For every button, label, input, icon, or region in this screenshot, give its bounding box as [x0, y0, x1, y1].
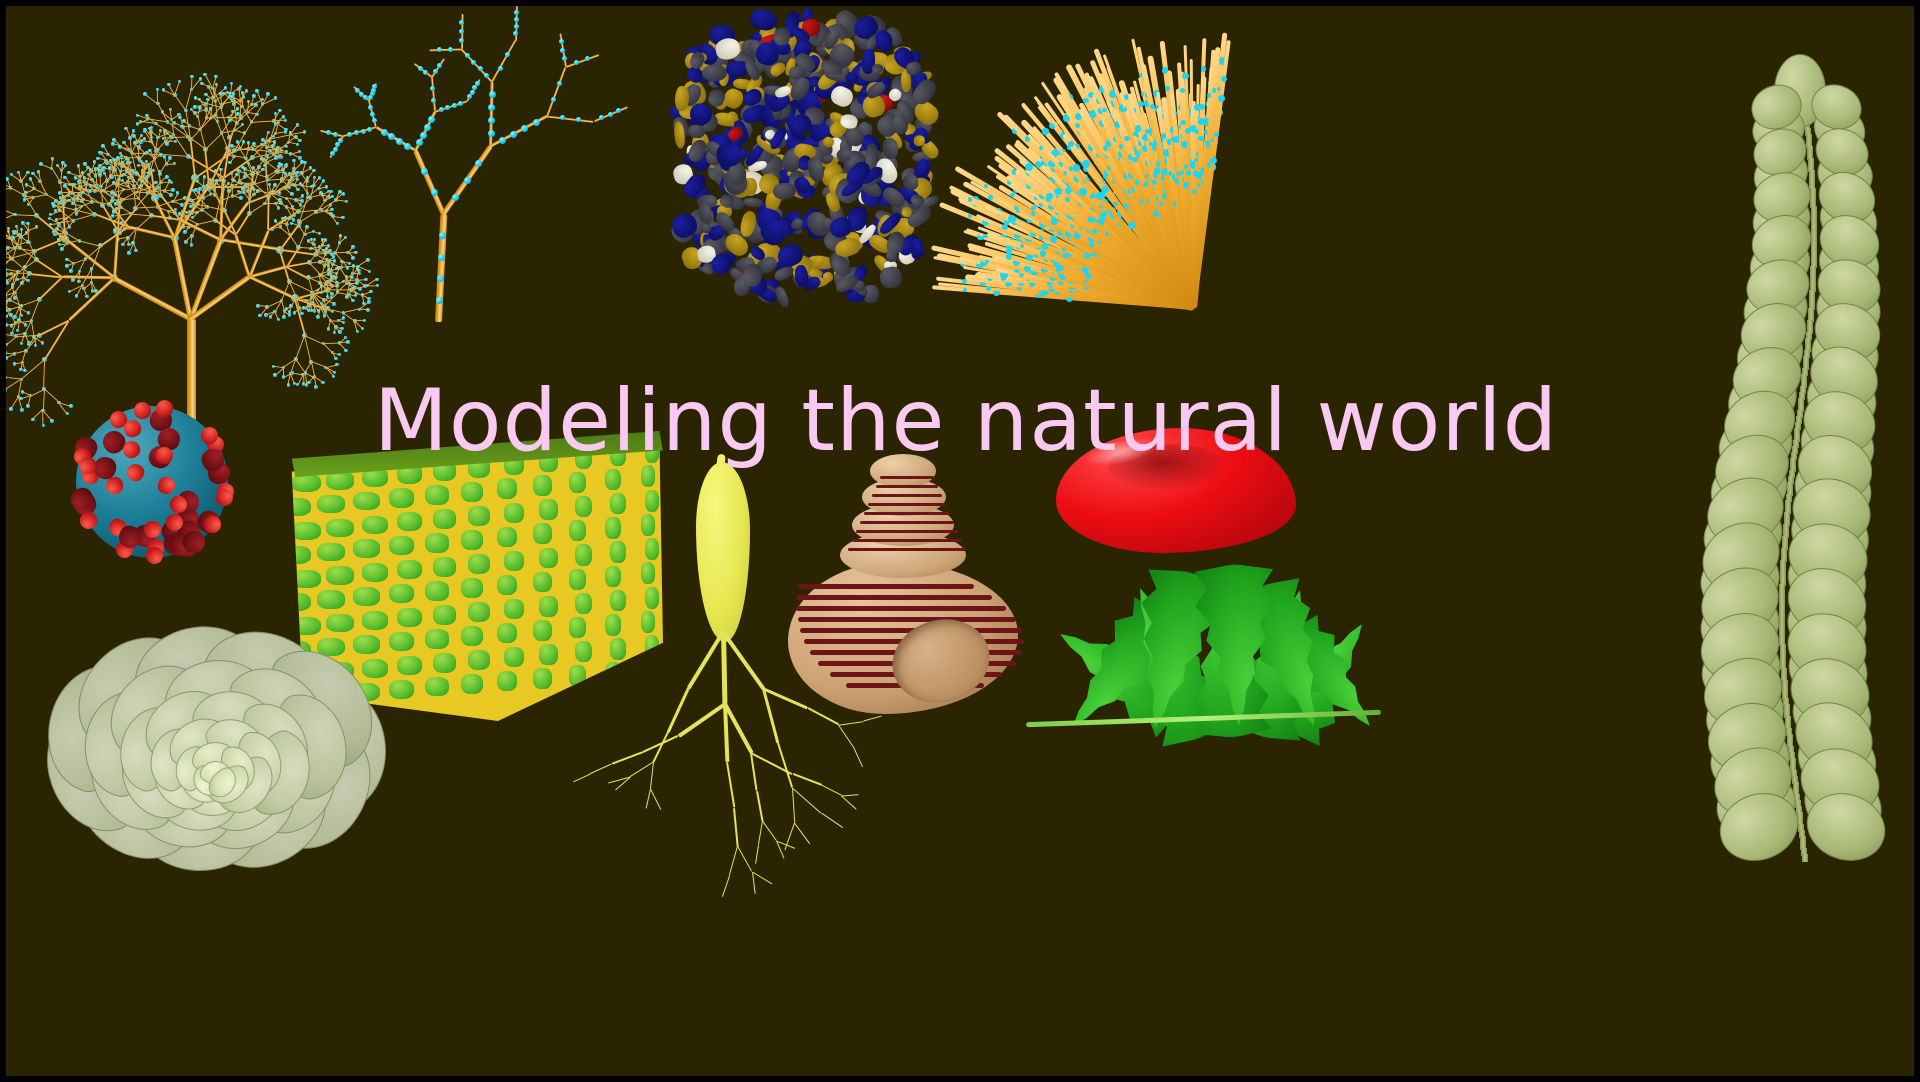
rootlet: [590, 763, 612, 774]
tissue-cell: [461, 626, 483, 646]
tree-branch: [0, 237, 1, 246]
twig-bud: [513, 31, 518, 36]
tissue-cell: [504, 599, 524, 619]
rootlet: [755, 845, 759, 864]
tree-branch: [1, 209, 15, 215]
tree-bud: [2, 242, 6, 246]
shell-growth-stripe: [796, 595, 992, 600]
tissue-cell: [461, 674, 483, 694]
tissue-cell: [533, 668, 552, 689]
tree-branch: [234, 130, 244, 134]
rootlet: [838, 720, 863, 725]
twig-bud: [437, 275, 444, 282]
tissue-cell: [425, 581, 449, 601]
twig-bud: [361, 129, 366, 134]
twig-bud: [359, 92, 364, 97]
tissue-cell: [326, 566, 354, 584]
tree-bud: [1, 248, 5, 252]
tree-branch: [0, 372, 6, 378]
twig-bud: [467, 94, 472, 99]
fan-node: [1165, 86, 1170, 91]
tree-bud: [1, 230, 5, 234]
twig-bud: [370, 112, 375, 117]
tissue-cell: [397, 656, 422, 675]
tree-bud: [0, 297, 3, 301]
twig-bud: [430, 86, 435, 91]
fan-node: [1214, 132, 1219, 137]
rootlet: [821, 785, 842, 796]
tree-branch: [174, 81, 180, 95]
fan-node: [1073, 164, 1080, 171]
rootlet: [726, 761, 736, 807]
protein-residue: [878, 265, 903, 290]
twig-bud: [488, 104, 495, 111]
twig-bud: [585, 56, 590, 61]
shell-spire-stripe: [860, 521, 954, 524]
tree-branch: [39, 277, 63, 300]
twig-bud: [514, 24, 519, 29]
twig-bud: [367, 127, 372, 132]
twig-branch: [413, 150, 445, 215]
virus-spike: [146, 547, 164, 565]
twig-bud: [420, 132, 427, 139]
tissue-cell: [468, 506, 490, 526]
tree-branch: [136, 192, 147, 194]
twig-bud: [428, 116, 435, 123]
twig-bud: [459, 38, 464, 43]
protein-residue: [772, 182, 797, 200]
tree-branch: [31, 299, 40, 321]
shell-spire-stripe: [868, 503, 946, 506]
twig-bud: [464, 177, 471, 184]
twig-bud: [475, 160, 482, 167]
tissue-cell: [389, 488, 414, 507]
twig-bud: [470, 90, 475, 95]
tree-branch: [267, 196, 269, 230]
twig-bud: [475, 81, 480, 86]
tree-bud: [0, 276, 2, 280]
tree-branch: [324, 342, 340, 344]
tree-bud: [2, 304, 6, 308]
twig-bud: [418, 66, 423, 71]
twig-branch: [491, 40, 516, 82]
twig-bud: [484, 73, 489, 78]
tree-branch: [0, 256, 4, 258]
tree-branch: [0, 296, 1, 298]
tree-branch: [0, 249, 5, 251]
rootlet: [721, 632, 727, 704]
twig-bud: [472, 85, 477, 90]
tree-branch: [0, 257, 4, 264]
twig-bud: [608, 112, 613, 117]
tissue-cell: [288, 498, 311, 516]
shell-spire-stripe: [876, 485, 938, 488]
rootlet: [750, 753, 758, 791]
tissue-cell: [291, 617, 321, 635]
rootlet: [841, 794, 858, 796]
poster-canvas: Modeling the natural world: [0, 0, 1920, 1082]
twig-bud: [510, 131, 517, 138]
tree-branch: [221, 238, 280, 251]
tree-branch: [0, 208, 2, 210]
tissue-cell: [461, 482, 483, 502]
tree-bud: [0, 347, 1, 351]
tree-branch: [149, 187, 159, 188]
twig-bud: [478, 66, 483, 71]
tissue-cell: [425, 629, 449, 649]
tree-branch: [295, 335, 305, 359]
fan-node: [1042, 128, 1048, 134]
tree-branch: [0, 214, 15, 222]
twig-bud: [574, 60, 579, 65]
twig-bud: [431, 98, 436, 103]
shell-growth-stripe: [798, 617, 1016, 622]
rootlet: [752, 872, 756, 894]
twig-bud: [505, 52, 510, 57]
tree-bud: [0, 207, 3, 211]
rootlet: [838, 724, 855, 748]
rootlet: [630, 762, 654, 778]
rootlet: [792, 788, 796, 823]
tree-branch: [251, 120, 273, 122]
rootlet: [733, 807, 738, 846]
rootlet: [721, 631, 765, 690]
tree-branch: [281, 300, 285, 311]
tissue-cell: [461, 530, 483, 550]
fan-node: [1010, 193, 1015, 198]
twig-bud: [488, 130, 495, 137]
tree-branch: [2, 257, 5, 267]
tree-branch: [0, 276, 7, 281]
tree-branch: [0, 245, 1, 246]
tissue-cell: [317, 543, 345, 561]
tree-branch: [294, 161, 302, 169]
tissue-cell: [389, 680, 414, 699]
tree-branch: [0, 296, 2, 303]
fan-node: [1102, 108, 1106, 112]
tree-branch: [247, 112, 256, 115]
twig-bud: [452, 194, 459, 201]
fan-node: [963, 288, 967, 292]
twig-bud: [514, 17, 519, 22]
page-title: Modeling the natural world: [6, 378, 1920, 464]
tissue-cell: [533, 620, 552, 641]
tissue-cell: [425, 677, 449, 697]
tree-branch: [0, 264, 1, 265]
tissue-cell: [288, 593, 311, 611]
tissue-cell: [389, 632, 414, 651]
rootlet: [677, 703, 725, 738]
tree-branch: [123, 198, 138, 200]
shell-spire-stripe: [864, 512, 950, 515]
tissue-cell: [389, 584, 414, 603]
tree-branch: [295, 359, 305, 373]
sparse-twig-model: [366, 26, 606, 326]
tree-bud: [0, 271, 1, 275]
twig-bud: [439, 232, 446, 239]
fan-node: [1221, 76, 1227, 82]
tree-branch: [265, 203, 275, 204]
rootlet: [762, 821, 777, 841]
twig-bud: [439, 107, 444, 112]
tissue-cell: [433, 509, 457, 529]
twig-bud: [448, 47, 453, 52]
fan-node: [1162, 67, 1169, 74]
tissue-cell: [362, 563, 389, 582]
tissue-cell: [497, 575, 517, 595]
tree-branch: [0, 277, 1, 282]
tissue-cell: [539, 499, 558, 520]
tissue-cell: [504, 551, 524, 571]
tree-branch: [0, 390, 5, 397]
tissue-cell: [468, 554, 490, 574]
rootlet: [777, 743, 793, 789]
tree-branch: [274, 311, 278, 320]
shell-spire-stripe: [852, 539, 962, 542]
tree-branch: [128, 178, 129, 187]
tissue-cell: [317, 495, 345, 513]
tree-branch: [0, 333, 2, 342]
tree-bud: [0, 220, 2, 224]
twig-bud: [551, 97, 556, 102]
twig-bud: [416, 139, 423, 146]
tree-bud: [0, 264, 2, 268]
tissue-cell: [433, 653, 457, 673]
twig-bud: [381, 129, 388, 136]
twig-bud: [459, 20, 464, 25]
tissue-cell: [353, 587, 380, 606]
tree-branch: [0, 245, 1, 251]
rootlet: [854, 747, 864, 768]
twig-bud: [404, 143, 411, 150]
fan-node: [1113, 202, 1118, 207]
fan-node: [968, 214, 972, 218]
tree-branch: [0, 383, 5, 390]
tissue-cell: [353, 492, 380, 511]
rootlet: [792, 774, 821, 787]
shell-growth-stripe: [798, 584, 974, 589]
twig-branch: [435, 214, 447, 322]
twig-bud: [616, 108, 621, 113]
twig-branch: [431, 77, 436, 111]
fan-node: [1218, 95, 1224, 101]
tree-bud: [0, 244, 2, 248]
twig-bud: [433, 69, 438, 74]
tree-branch: [130, 213, 151, 216]
tree-branch: [311, 362, 315, 377]
tree-branch: [6, 336, 16, 345]
twig-bud: [488, 117, 495, 124]
tissue-cell: [317, 590, 345, 608]
tree-branch: [323, 343, 333, 353]
tree-branch: [290, 153, 300, 158]
tissue-cell: [504, 647, 524, 667]
tree-bud: [3, 287, 7, 291]
tree-branch: [173, 201, 182, 205]
rootlet: [573, 773, 591, 782]
tree-branch: [0, 272, 1, 277]
filament-fan-model: [986, 18, 1366, 308]
tree-branch: [0, 332, 1, 334]
twig-bud: [489, 91, 496, 98]
twig-bud: [445, 105, 450, 110]
tree-branch: [298, 220, 300, 226]
tree-branch: [286, 266, 308, 279]
tissue-cell: [533, 475, 552, 496]
fan-node: [1199, 104, 1205, 110]
tree-bud: [0, 270, 1, 274]
tree-branch: [249, 203, 265, 214]
twig-bud: [424, 124, 431, 131]
rootlet: [650, 789, 661, 810]
tree-branch: [166, 163, 174, 165]
fan-node: [1065, 197, 1070, 202]
sea-shell-model: [784, 454, 1034, 719]
twig-bud: [459, 29, 464, 34]
tree-bud: [0, 295, 3, 299]
twig-bud: [514, 10, 519, 15]
tree-bud: [0, 229, 1, 233]
root-tuber: [696, 462, 750, 642]
tree-bud: [1, 400, 5, 404]
tissue-cell: [468, 650, 490, 670]
tissue-cell: [497, 671, 517, 691]
protein-residue: [914, 135, 925, 146]
tree-bud: [0, 182, 3, 186]
fan-node: [1201, 66, 1206, 71]
twig-bud: [498, 66, 503, 71]
tissue-cell: [504, 503, 524, 523]
twig-branch: [547, 115, 593, 122]
tissue-cell: [433, 605, 457, 625]
twig-bud: [533, 119, 540, 126]
shell-spire-stripe: [872, 494, 942, 497]
twig-branch: [431, 58, 445, 78]
tissue-cell: [497, 478, 517, 498]
rootlet: [841, 795, 856, 809]
twig-bud: [438, 254, 445, 261]
twig-bud: [372, 84, 377, 89]
tree-branch: [0, 269, 6, 272]
tissue-cell: [291, 474, 321, 492]
twig-bud: [372, 118, 377, 123]
twig-branch: [546, 67, 566, 117]
rootlet: [794, 823, 810, 844]
tissue-cell: [425, 533, 449, 553]
rootlet: [729, 846, 739, 876]
twig-bud: [576, 117, 581, 122]
rootlet: [667, 688, 690, 733]
tree-branch: [172, 238, 193, 320]
tissue-cell: [362, 611, 389, 630]
tree-branch: [0, 326, 2, 334]
tree-branch: [230, 156, 235, 163]
fan-node: [1180, 88, 1185, 93]
rootlet: [756, 790, 763, 821]
tree-branch: [274, 366, 284, 368]
tree-bud: [0, 308, 2, 312]
tissue-cell: [291, 570, 321, 588]
twig-bud: [562, 56, 567, 61]
tree-branch: [3, 243, 5, 249]
rootlet: [737, 846, 752, 872]
shell-growth-stripe: [796, 606, 1006, 611]
tree-branch: [0, 264, 1, 272]
tree-bud: [0, 243, 4, 247]
tissue-cell: [533, 523, 552, 544]
tree-branch: [339, 343, 347, 351]
twig-bud: [521, 125, 528, 132]
rootlet: [612, 751, 644, 764]
tree-bud: [0, 332, 3, 336]
twig-branch: [565, 54, 599, 68]
tree-branch: [15, 214, 37, 216]
twig-bud: [326, 130, 331, 135]
tissue-cell: [397, 560, 422, 579]
plant-stem: [1802, 854, 1808, 862]
protein-residue: [749, 8, 779, 32]
rosette-succulent-model: [36, 636, 391, 876]
tree-branch: [21, 172, 28, 181]
tissue-cell: [497, 527, 517, 547]
twig-bud: [458, 101, 463, 106]
tissue-cell: [539, 596, 558, 617]
tree-branch: [0, 265, 6, 270]
twig-bud: [557, 81, 562, 86]
rootlet: [752, 871, 772, 884]
tree-branch: [2, 390, 5, 401]
tree-branch: [0, 244, 5, 251]
tree-branch: [224, 191, 230, 211]
compound-fern-leaf-model: [1006, 576, 1406, 876]
rootlet: [687, 631, 725, 689]
tree-branch: [0, 264, 1, 268]
rootlet: [722, 876, 730, 897]
fan-node: [1182, 73, 1189, 80]
tissue-cell: [539, 644, 558, 665]
tissue-cell: [461, 578, 483, 598]
tissue-cell: [539, 548, 558, 569]
tree-branch: [79, 240, 100, 246]
fan-node: [1124, 136, 1130, 142]
tissue-cell: [397, 512, 422, 531]
tissue-cell: [362, 516, 389, 535]
rootlet: [650, 762, 654, 789]
rootlet: [758, 821, 763, 845]
tree-branch: [0, 377, 6, 381]
tree-branch: [205, 133, 222, 150]
tree-bud: [0, 188, 3, 192]
fan-node: [1082, 160, 1089, 167]
twig-branch: [429, 48, 462, 51]
twig-bud: [354, 130, 359, 135]
twig-bud: [452, 103, 457, 108]
tissue-cell: [433, 557, 457, 577]
fan-node: [1210, 157, 1217, 164]
twig-bud: [599, 115, 604, 120]
tree-branch: [305, 335, 324, 344]
tissue-cell: [326, 614, 354, 632]
fan-node: [968, 197, 972, 201]
tree-bud: [1, 350, 5, 354]
tissue-cell: [291, 522, 321, 540]
tree-branch: [136, 215, 151, 229]
tree-branch: [0, 201, 2, 210]
shell-spire-stripe: [856, 530, 958, 533]
tree-branch: [0, 221, 1, 231]
tissue-cell: [533, 572, 552, 593]
tree-branch: [62, 276, 114, 280]
